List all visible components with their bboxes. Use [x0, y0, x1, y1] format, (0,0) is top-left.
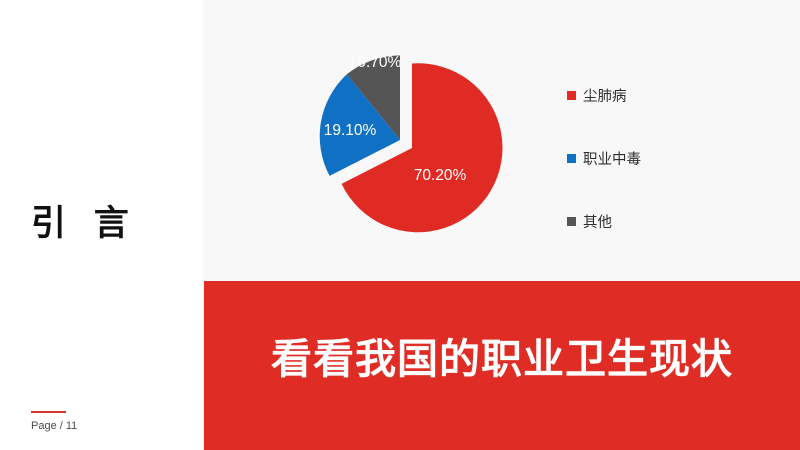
pie-chart: 10.70% 19.10% 70.20% [288, 22, 520, 254]
page-number-label: Page / 11 [31, 420, 77, 432]
chart-legend: 尘肺病 职业中毒 其他 [567, 64, 747, 253]
legend-item-other[interactable]: 其他 [567, 190, 747, 253]
pie-label-other: 10.70% [349, 54, 402, 71]
headline-banner: 看看我国的职业卫生现状 [204, 281, 800, 450]
legend-label: 其他 [583, 211, 612, 232]
page-title: 引 言 [31, 202, 138, 246]
legend-label: 职业中毒 [583, 148, 641, 169]
chart-area: 10.70% 19.10% 70.20% 尘肺病 职业中毒 其他 [203, 0, 800, 281]
left-panel: 引 言 Page / 11 [0, 0, 203, 450]
legend-item-pneumoconiosis[interactable]: 尘肺病 [567, 64, 747, 127]
pie-label-pneumoconiosis: 70.20% [414, 167, 467, 184]
legend-swatch-icon [567, 91, 576, 100]
page-accent-rule [31, 411, 66, 413]
pie-label-poisoning: 19.10% [324, 122, 377, 139]
headline-text: 看看我国的职业卫生现状 [204, 281, 800, 450]
legend-swatch-icon [567, 217, 576, 226]
legend-item-poisoning[interactable]: 职业中毒 [567, 127, 747, 190]
slide: 引 言 Page / 11 10.70% 19.10% 70.20% 尘肺病 [0, 0, 800, 450]
legend-swatch-icon [567, 154, 576, 163]
legend-label: 尘肺病 [583, 85, 627, 106]
